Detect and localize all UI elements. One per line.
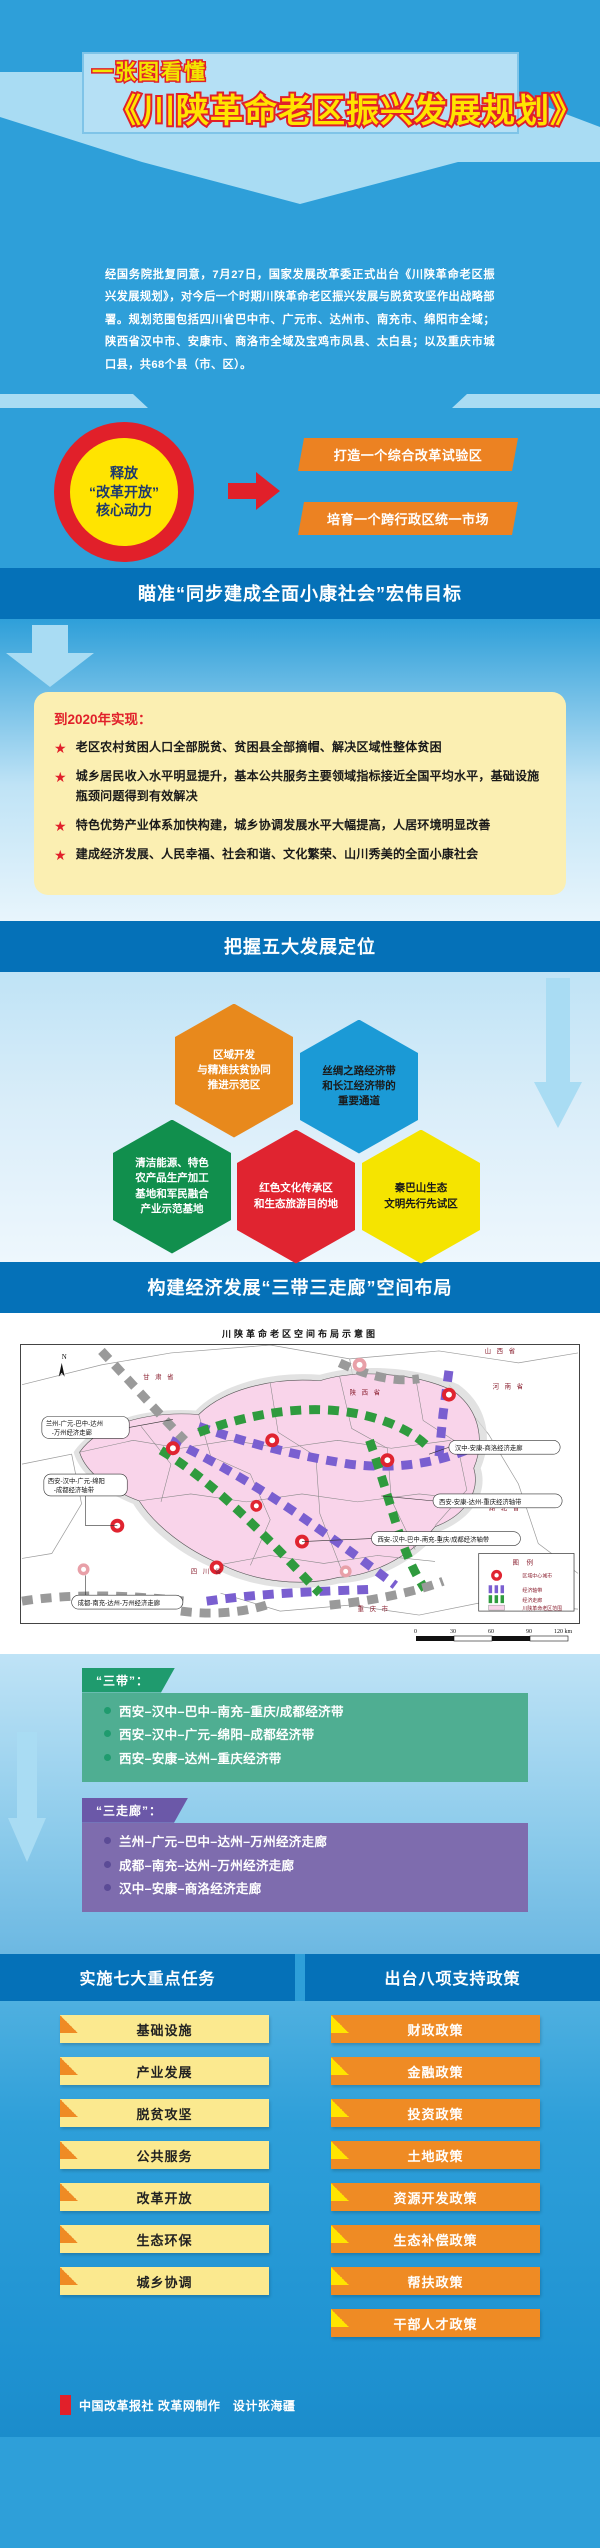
policy-tag-5[interactable]: 资源开发政策 xyxy=(331,2183,540,2211)
hero-down-arrow xyxy=(142,162,458,204)
corner-fold-icon xyxy=(60,2099,78,2117)
belts-corridors-section: “三带”： 西安–汉中–巴中–南充–重庆/成都经济带 西安–汉中–广元–绵阳–成… xyxy=(0,1654,600,1955)
section-heading-goal: 瞄准“同步建成全面小康社会”宏伟目标 xyxy=(0,568,600,619)
corner-fold-icon xyxy=(331,2183,349,2201)
map-callout-6: 西安-汉中-巴中-南充-重庆/成都经济轴带 xyxy=(377,1534,489,1543)
policy-tag-8[interactable]: 干部人才政策 xyxy=(331,2309,540,2337)
task-tag-5[interactable]: 改革开放 xyxy=(60,2183,269,2211)
map-callout-3: 成都-南充-达州-万州经济走廊 xyxy=(78,1598,161,1607)
policy-tag-6[interactable]: 生态补偿政策 xyxy=(331,2225,540,2253)
map-legend: 图 例 区域中心城市 经济轴带 经济走廊 川陕革命老区范围 xyxy=(479,1553,574,1612)
goal-body: 到2020年实现： ★ 老区农村贫困人口全部脱贫、贫困县全部摘帽、解决区域性整体… xyxy=(0,619,600,920)
svg-text:N: N xyxy=(62,1352,67,1360)
goal-bullet-text: 特色优势产业体系加快构建，城乡协调发展水平大幅提高，人居环境明显改善 xyxy=(76,816,491,836)
corner-fold-icon xyxy=(60,2015,78,2033)
bullet-dot-icon xyxy=(104,1707,111,1714)
star-icon: ★ xyxy=(54,845,67,865)
credit-text: 中国改革报社 改革网制作 设计张海疆 xyxy=(79,2397,295,2414)
goal-bullet-text: 老区农村贫困人口全部脱贫、贫困县全部摘帽、解决区域性整体贫困 xyxy=(76,738,442,758)
goal-bullet: ★ 老区农村贫困人口全部脱贫、贫困县全部摘帽、解决区域性整体贫困 xyxy=(54,738,546,758)
policy-tag-label: 帮扶政策 xyxy=(407,2272,463,2291)
task-tag-3[interactable]: 脱贫攻坚 xyxy=(60,2099,269,2127)
hex-label: 清洁能源、特色农产品生产加工基地和军民融合产业示范基地 xyxy=(135,1156,209,1217)
map-figure: N 甘 肃 省 陕 西 省 河 南 省 湖 北 省 四 川 省 重 庆 市 山 … xyxy=(20,1344,580,1624)
svg-text:区域中心城市: 区域中心城市 xyxy=(522,1572,552,1579)
goal-card-title: 到2020年实现： xyxy=(54,708,546,728)
section-heading-tasks: 实施七大重点任务 xyxy=(0,1954,295,2001)
three-corridors-body: 兰州–广元–巴中–达州–万州经济走廊 成都–南充–达州–万州经济走廊 汉中–安康… xyxy=(82,1823,528,1912)
corner-fold-icon xyxy=(331,2225,349,2243)
core-line-2: “改革开放” xyxy=(89,483,159,502)
policy-tag-label: 土地政策 xyxy=(407,2146,463,2165)
task-tag-label: 城乡协调 xyxy=(136,2272,192,2291)
map-scale-bar: 03060 90120 km xyxy=(414,1626,574,1646)
corner-fold-icon xyxy=(331,2057,349,2075)
core-ring-inner: 释放 “改革开放” 核心动力 xyxy=(70,438,178,546)
map-callout-1-l2: -万州经济走廊 xyxy=(52,1427,93,1436)
policy-tag-4[interactable]: 土地政策 xyxy=(331,2141,540,2169)
policy-tag-label: 财政政策 xyxy=(407,2020,463,2039)
svg-text:川陕革命老区范围: 川陕革命老区范围 xyxy=(522,1605,562,1612)
hex-label: 丝绸之路经济带和长江经济带的重要通道 xyxy=(322,1064,396,1110)
belt-item: 西安–汉中–巴中–南充–重庆/成都经济带 xyxy=(104,1701,518,1725)
three-belts-tab: “三带”： xyxy=(82,1668,175,1693)
section-heading-spatial: 构建经济发展“三带三走廊”空间布局 xyxy=(0,1262,600,1313)
section-heading-positions: 把握五大发展定位 xyxy=(0,921,600,972)
svg-text:河 南 省: 河 南 省 xyxy=(493,1381,525,1390)
three-corridors-block: “三走廊”： 兰州–广元–巴中–达州–万州经济走廊 成都–南充–达州–万州经济走… xyxy=(82,1798,528,1912)
three-corridors-tab: “三走廊”： xyxy=(82,1798,188,1823)
infographic-page: 一张图看懂 《川陕革命老区振兴发展规划》 经国务院批复同意，7月27日，国家发展… xyxy=(0,0,600,2548)
divider-chevron-1 xyxy=(0,394,600,410)
task-tag-label: 脱贫攻坚 xyxy=(136,2104,192,2123)
hex-silk-road-corridor: 丝绸之路经济带和长江经济带的重要通道 xyxy=(300,1020,418,1154)
hex-red-culture-tourism: 红色文化传承区和生态旅游目的地 xyxy=(237,1130,355,1264)
core-line-3: 核心动力 xyxy=(96,501,152,520)
map-callout-4: 汉中-安康-商洛经济走廊 xyxy=(455,1443,523,1452)
tasks-policies-headings: 实施七大重点任务 出台八项支持政策 xyxy=(0,1954,600,2001)
tasks-policies-body: 基础设施产业发展脱贫攻坚公共服务改革开放生态环保城乡协调 财政政策金融政策投资政… xyxy=(0,2001,600,2351)
corner-fold-icon xyxy=(60,2057,78,2075)
svg-text:陕 西 省: 陕 西 省 xyxy=(350,1387,382,1396)
tasks-column: 基础设施产业发展脱贫攻坚公共服务改革开放生态环保城乡协调 xyxy=(0,2015,299,2351)
core-ring: 释放 “改革开放” 核心动力 xyxy=(54,422,194,562)
policies-column: 财政政策金融政策投资政策土地政策资源开发政策生态补偿政策帮扶政策干部人才政策 xyxy=(309,2015,600,2351)
red-mark-icon xyxy=(60,2395,71,2415)
corner-fold-icon xyxy=(60,2225,78,2243)
task-tag-4[interactable]: 公共服务 xyxy=(60,2141,269,2169)
corridor-item: 成都–南充–达州–万州经济走廊 xyxy=(104,1855,518,1879)
task-tag-label: 改革开放 xyxy=(136,2188,192,2207)
map-section: 川陕革命老区空间布局示意图 xyxy=(0,1313,600,1654)
arrow-down-icon xyxy=(6,1732,48,1862)
policy-tag-1[interactable]: 财政政策 xyxy=(331,2015,540,2043)
section-heading-policies: 出台八项支持政策 xyxy=(305,1954,600,2001)
svg-text:120 km: 120 km xyxy=(554,1629,573,1635)
bullet-dot-icon xyxy=(104,1837,111,1844)
map-callout-2-l1: 西安-汉中-广元-绵阳 xyxy=(48,1476,105,1485)
task-tag-label: 产业发展 xyxy=(136,2062,192,2081)
task-tag-1[interactable]: 基础设施 xyxy=(60,2015,269,2043)
policy-tag-label: 金融政策 xyxy=(407,2062,463,2081)
goal-card: 到2020年实现： ★ 老区农村贫困人口全部脱贫、贫困县全部摘帽、解决区域性整体… xyxy=(34,692,566,894)
task-tag-7[interactable]: 城乡协调 xyxy=(60,2267,269,2295)
policy-tag-label: 干部人才政策 xyxy=(393,2314,477,2333)
policy-tag-label: 投资政策 xyxy=(407,2104,463,2123)
goal-bullet: ★ 城乡居民收入水平明显提升，基本公共服务主要领域指标接近全国平均水平，基础设施… xyxy=(54,767,546,807)
hex-label: 红色文化传承区和生态旅游目的地 xyxy=(254,1181,338,1211)
goal-bullet-text: 城乡居民收入水平明显提升，基本公共服务主要领域指标接近全国平均水平，基础设施瓶颈… xyxy=(76,767,546,807)
corridor-item: 兰州–广元–巴中–达州–万州经济走廊 xyxy=(104,1831,518,1855)
core-driver-section: 释放 “改革开放” 核心动力 打造一个综合改革试验区 培育一个跨行政区统一市场 xyxy=(0,410,600,568)
three-belts-block: “三带”： 西安–汉中–巴中–南充–重庆/成都经济带 西安–汉中–广元–绵阳–成… xyxy=(82,1668,528,1782)
belt-item: 西安–安康–达州–重庆经济带 xyxy=(104,1748,518,1772)
belt-item: 西安–汉中–广元–绵阳–成都经济带 xyxy=(104,1724,518,1748)
svg-text:四 川 省: 四 川 省 xyxy=(191,1566,223,1575)
svg-text:90: 90 xyxy=(526,1629,532,1635)
footer-credit: 中国改革报社 改革网制作 设计张海疆 xyxy=(0,2351,600,2437)
task-tag-6[interactable]: 生态环保 xyxy=(60,2225,269,2253)
corner-fold-icon xyxy=(331,2015,349,2033)
svg-text:山 西 省: 山 西 省 xyxy=(485,1345,517,1354)
hero-banner: 一张图看懂 《川陕革命老区振兴发展规划》 xyxy=(0,0,600,250)
positions-hex-group: 区域开发与精准扶贫协同推进示范区 丝绸之路经济带和长江经济带的重要通道 清洁能源… xyxy=(0,972,600,1262)
corner-fold-icon xyxy=(331,2267,349,2285)
map-callout-1-l1: 兰州-广元-巴中-达州 xyxy=(46,1418,103,1427)
task-tag-label: 公共服务 xyxy=(136,2146,192,2165)
svg-text:经济轴带: 经济轴带 xyxy=(522,1587,542,1594)
svg-text:30: 30 xyxy=(450,1629,456,1635)
star-icon: ★ xyxy=(54,738,67,758)
right-arrow-icon xyxy=(228,472,280,510)
svg-text:甘 肃 省: 甘 肃 省 xyxy=(143,1371,175,1380)
svg-text:图 例: 图 例 xyxy=(512,1557,535,1566)
task-tag-label: 基础设施 xyxy=(136,2020,192,2039)
hex-qinba-eco-civilization: 秦巴山生态文明先行先试区 xyxy=(362,1130,480,1264)
bullet-dot-icon xyxy=(104,1730,111,1737)
goal-box-2: 培育一个跨行政区统一市场 xyxy=(298,502,518,535)
policy-tag-label: 生态补偿政策 xyxy=(393,2230,477,2249)
three-belts-body: 西安–汉中–巴中–南充–重庆/成都经济带 西安–汉中–广元–绵阳–成都经济带 西… xyxy=(82,1693,528,1782)
hex-label: 区域开发与精准扶贫协同推进示范区 xyxy=(197,1048,271,1094)
svg-text:重 庆 市: 重 庆 市 xyxy=(358,1604,390,1613)
corner-fold-icon xyxy=(60,2183,78,2201)
map-callout-5: 西安-安康-达州-重庆经济轴带 xyxy=(439,1496,522,1505)
star-icon: ★ xyxy=(54,767,67,807)
task-tag-2[interactable]: 产业发展 xyxy=(60,2057,269,2085)
core-line-1: 释放 xyxy=(110,464,138,483)
bullet-dot-icon xyxy=(104,1884,111,1891)
svg-text:0: 0 xyxy=(414,1629,417,1635)
goal-bullet: ★ 特色优势产业体系加快构建，城乡协调发展水平大幅提高，人居环境明显改善 xyxy=(54,816,546,836)
arrow-down-icon xyxy=(0,625,100,687)
policy-tag-label: 资源开发政策 xyxy=(393,2188,477,2207)
hex-label: 秦巴山生态文明先行先试区 xyxy=(384,1181,458,1211)
corner-fold-icon xyxy=(331,2099,349,2117)
goal-bullet-text: 建成经济发展、人民幸福、社会和谐、文化繁荣、山川秀美的全面小康社会 xyxy=(76,845,479,865)
task-tag-label: 生态环保 xyxy=(136,2230,192,2249)
svg-text:60: 60 xyxy=(488,1629,494,1635)
map-title: 川陕革命老区空间布局示意图 xyxy=(0,1327,600,1340)
svg-text:经济走廊: 经济走廊 xyxy=(522,1597,542,1604)
map-callout-2-l2: -成都经济轴带 xyxy=(54,1484,95,1493)
star-icon: ★ xyxy=(54,816,67,836)
goal-bullet: ★ 建成经济发展、人民幸福、社会和谐、文化繁荣、山川秀美的全面小康社会 xyxy=(54,845,546,865)
page-title: 《川陕革命老区振兴发展规划》 xyxy=(108,84,584,132)
hex-clean-energy-base: 清洁能源、特色农产品生产加工基地和军民融合产业示范基地 xyxy=(113,1120,231,1254)
goal-box-1: 打造一个综合改革试验区 xyxy=(298,438,518,471)
corner-fold-icon xyxy=(331,2309,349,2327)
arrow-down-icon xyxy=(532,978,584,1128)
hex-region-development: 区域开发与精准扶贫协同推进示范区 xyxy=(175,1004,293,1138)
hero-kicker: 一张图看懂 xyxy=(92,56,207,86)
policy-tag-2[interactable]: 金融政策 xyxy=(331,2057,540,2085)
map-graphic: N 甘 肃 省 陕 西 省 河 南 省 湖 北 省 四 川 省 重 庆 市 山 … xyxy=(21,1345,579,1623)
corner-fold-icon xyxy=(60,2267,78,2285)
policy-tag-7[interactable]: 帮扶政策 xyxy=(331,2267,540,2295)
intro-paragraph: 经国务院批复同意，7月27日，国家发展改革委正式出台《川陕革命老区振兴发展规划》… xyxy=(0,250,600,394)
corner-fold-icon xyxy=(331,2141,349,2159)
bullet-dot-icon xyxy=(104,1754,111,1761)
bullet-dot-icon xyxy=(104,1861,111,1868)
corner-fold-icon xyxy=(60,2141,78,2159)
policy-tag-3[interactable]: 投资政策 xyxy=(331,2099,540,2127)
corridor-item: 汉中–安康–商洛经济走廊 xyxy=(104,1878,518,1902)
